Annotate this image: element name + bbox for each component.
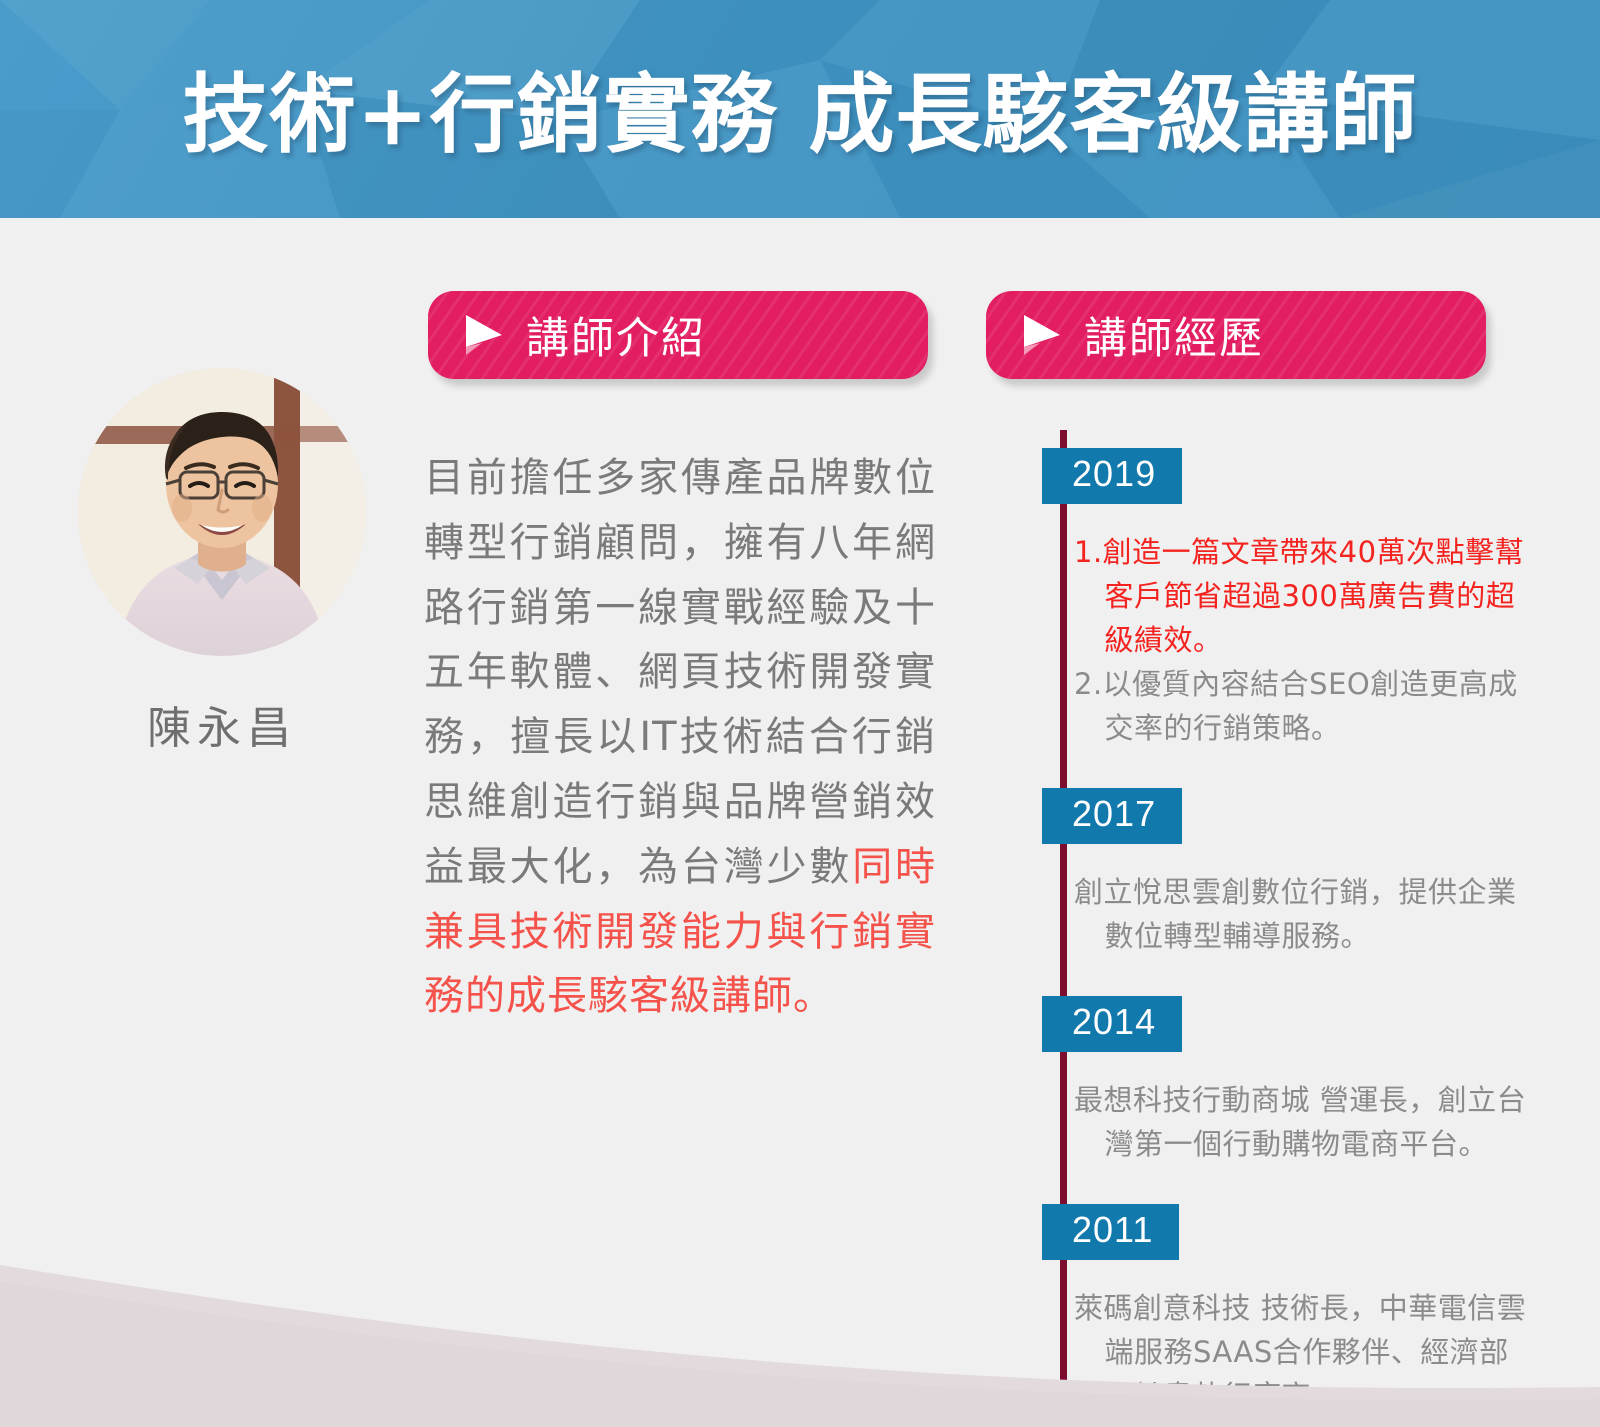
section-header-experience: 講師經歷 — [986, 291, 1486, 379]
timeline-entry-text: 萊碼創意科技 技術長，中華電信雲端服務SAAS合作夥伴、經濟部雲計畫執行廠商。 — [1074, 1286, 1536, 1418]
timeline-item-body: 1.創造一篇文章帶來40萬次點擊幫客戶節省超過300萬廣告費的超級績效。2.以優… — [1074, 530, 1536, 750]
timeline-entry: 萊碼創意科技 技術長，中華電信雲端服務SAAS合作夥伴、經濟部雲計畫執行廠商。 — [1074, 1286, 1536, 1418]
page-title: 技術+行銷實務 成長駭客級講師 — [0, 0, 1600, 218]
timeline-year-badge: 2011 — [1042, 1204, 1179, 1260]
timeline-entry: 2.以優質內容結合SEO創造更高成交率的行銷策略。 — [1074, 662, 1536, 750]
timeline-item-body: 萊碼創意科技 技術長，中華電信雲端服務SAAS合作夥伴、經濟部雲計畫執行廠商。 — [1074, 1286, 1536, 1418]
avatar-photo — [78, 368, 366, 656]
timeline-entry-text: 2.以優質內容結合SEO創造更高成交率的行銷策略。 — [1074, 662, 1536, 750]
section-header-intro-label: 講師介紹 — [526, 304, 706, 366]
timeline-entry: 創立悅思雲創數位行銷，提供企業數位轉型輔導服務。 — [1074, 870, 1536, 958]
experience-timeline: 20191.創造一篇文章帶來40萬次點擊幫客戶節省超過300萬廣告費的超級績效。… — [1016, 430, 1536, 1330]
timeline-entry-text: 最想科技行動商城 營運長，創立台灣第一個行動購物電商平台。 — [1074, 1078, 1536, 1166]
timeline-year-badge: 2017 — [1042, 788, 1182, 844]
instructor-profile: 陳永昌 — [52, 368, 392, 756]
timeline-entry: 最想科技行動商城 營運長，創立台灣第一個行動購物電商平台。 — [1074, 1078, 1536, 1166]
page-header: 技術+行銷實務 成長駭客級講師 — [0, 0, 1600, 218]
instructor-bio: 目前擔任多家傳產品牌數位轉型行銷顧問，擁有八年網路行銷第一線實戰經驗及十五年軟體… — [424, 446, 936, 1029]
timeline-year-badge: 2019 — [1042, 448, 1182, 504]
section-header-experience-label: 講師經歷 — [1084, 304, 1264, 366]
timeline-entry-text: 創立悅思雲創數位行銷，提供企業數位轉型輔導服務。 — [1074, 870, 1536, 958]
timeline-entry-text: 1.創造一篇文章帶來40萬次點擊幫客戶節省超過300萬廣告費的超級績效。 — [1074, 530, 1536, 662]
timeline-item: 2017創立悅思雲創數位行銷，提供企業數位轉型輔導服務。 — [1016, 788, 1536, 958]
bio-plain-text: 目前擔任多家傳產品牌數位轉型行銷顧問，擁有八年網路行銷第一線實戰經驗及十五年軟體… — [424, 455, 936, 890]
timeline-item-body: 創立悅思雲創數位行銷，提供企業數位轉型輔導服務。 — [1074, 870, 1536, 958]
timeline-year-badge: 2014 — [1042, 996, 1182, 1052]
timeline-item: 20191.創造一篇文章帶來40萬次點擊幫客戶節省超過300萬廣告費的超級績效。… — [1016, 448, 1536, 750]
instructor-name: 陳永昌 — [147, 692, 297, 756]
play-triangle-icon — [1022, 313, 1062, 357]
timeline-entry: 1.創造一篇文章帶來40萬次點擊幫客戶節省超過300萬廣告費的超級績效。 — [1074, 530, 1536, 662]
avatar — [78, 368, 366, 656]
section-header-intro: 講師介紹 — [428, 291, 928, 379]
timeline-item: 2011萊碼創意科技 技術長，中華電信雲端服務SAAS合作夥伴、經濟部雲計畫執行… — [1016, 1204, 1536, 1418]
play-triangle-icon — [464, 313, 504, 357]
timeline-item: 2014最想科技行動商城 營運長，創立台灣第一個行動購物電商平台。 — [1016, 996, 1536, 1166]
timeline-item-body: 最想科技行動商城 營運長，創立台灣第一個行動購物電商平台。 — [1074, 1078, 1536, 1166]
